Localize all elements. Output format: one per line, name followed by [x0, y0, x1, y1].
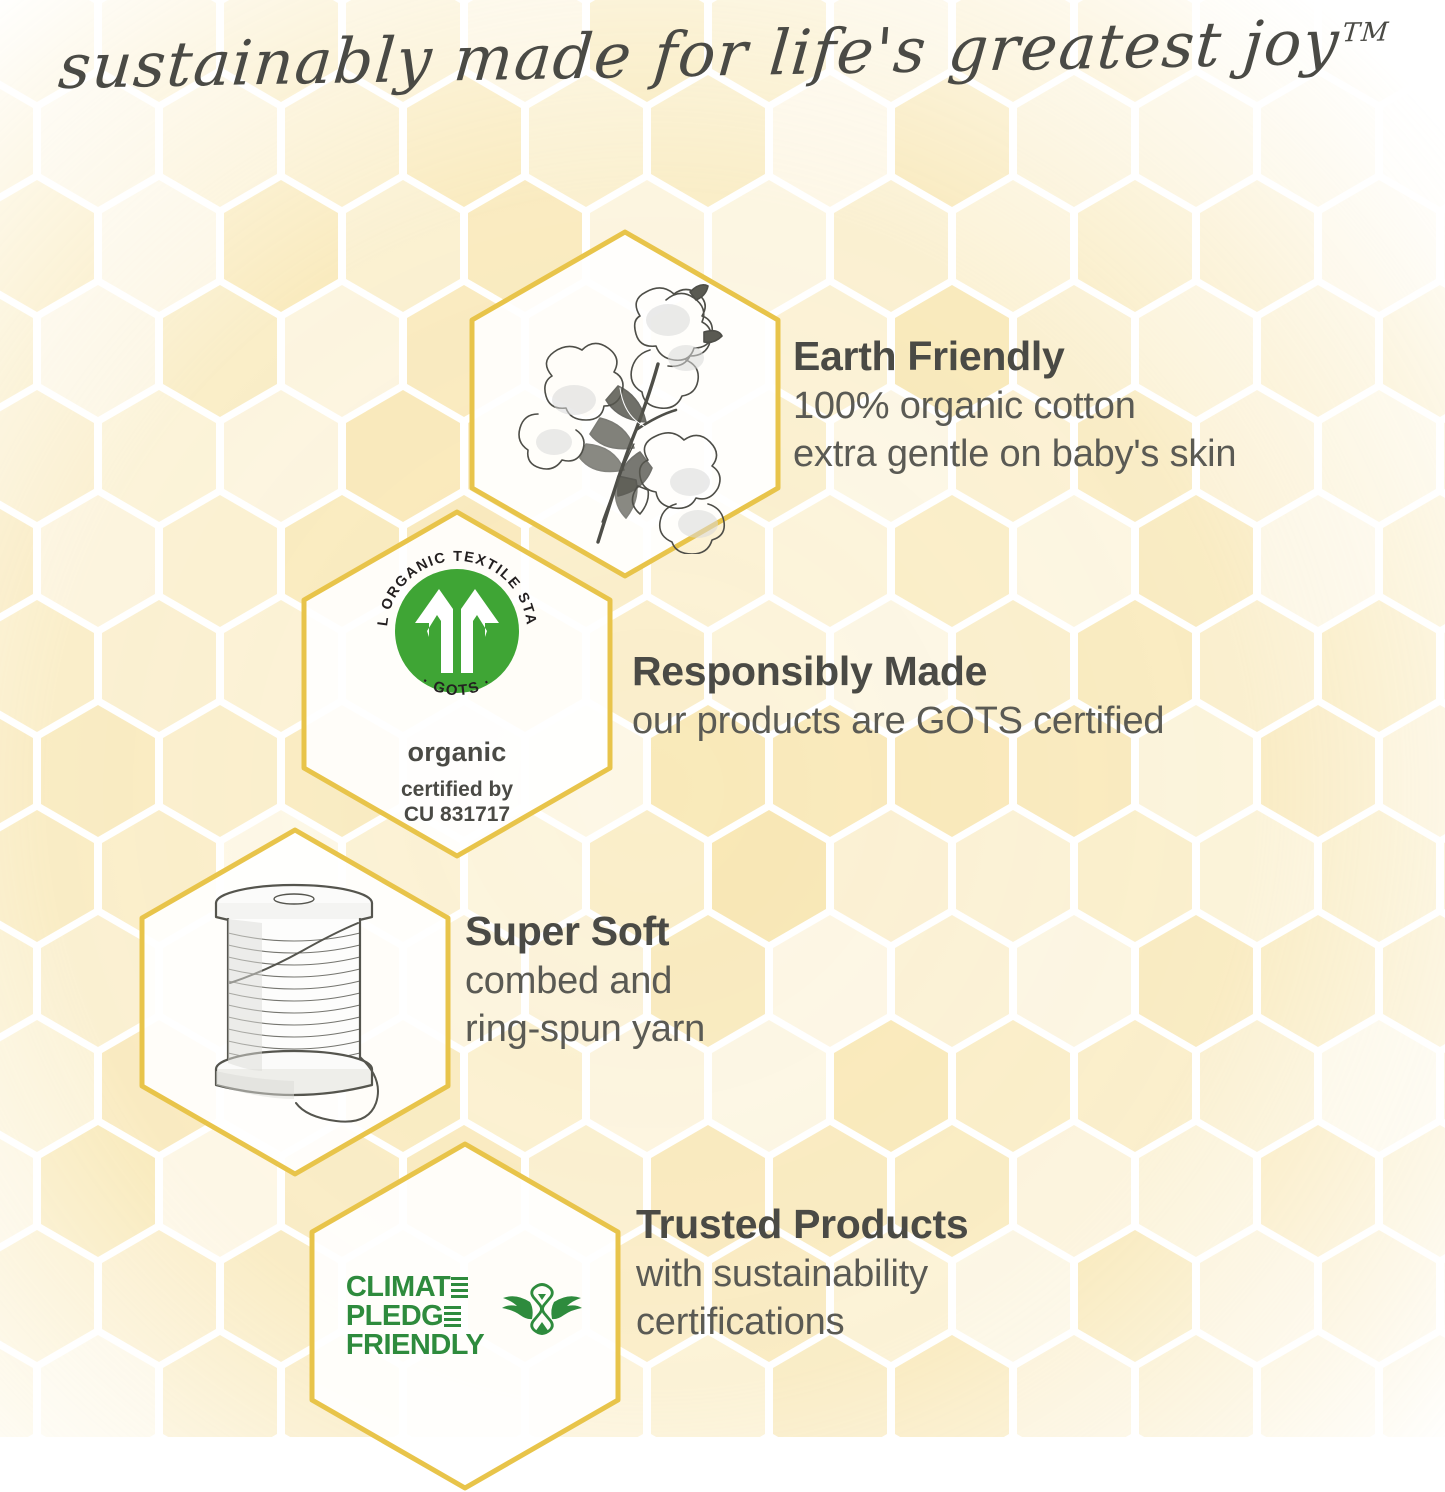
- gots-badge-wrap: GLOBAL ORGANIC TEXTILE STANDARD · GOTS ·…: [300, 508, 614, 860]
- spool-illustration-wrap: [138, 826, 452, 1178]
- feature-line: extra gentle on baby's skin: [793, 430, 1236, 478]
- feature-line: ring-spun yarn: [465, 1005, 705, 1053]
- feature-text-responsibly-made: Responsibly Made our products are GOTS c…: [632, 645, 1164, 745]
- feature-line: with sustainability: [636, 1250, 968, 1298]
- cpf-striped-e-icon: [451, 1275, 468, 1299]
- feature-title: Earth Friendly: [793, 330, 1236, 382]
- features-list: Earth Friendly 100% organic cotton extra…: [0, 0, 1445, 1437]
- cpf-line-1: CLIMAT: [346, 1273, 450, 1302]
- feature-title: Super Soft: [465, 905, 705, 957]
- climate-pledge-wrap: CLIMAT PLEDG FRIENDLY: [308, 1140, 622, 1492]
- climate-pledge-friendly-logo: CLIMAT PLEDG FRIENDLY: [346, 1273, 584, 1360]
- gots-certified-by: certified by: [367, 777, 547, 802]
- feature-line: certifications: [636, 1298, 968, 1346]
- feature-title: Trusted Products: [636, 1198, 968, 1250]
- feature-text-super-soft: Super Soft combed and ring-spun yarn: [465, 905, 705, 1053]
- feature-text-trusted-products: Trusted Products with sustainability cer…: [636, 1198, 968, 1346]
- gots-certification-badge: GLOBAL ORGANIC TEXTILE STANDARD · GOTS ·…: [367, 541, 547, 827]
- feature-line: combed and: [465, 957, 705, 1005]
- cpf-wordmark: CLIMAT PLEDG FRIENDLY: [346, 1273, 484, 1360]
- cpf-line-2: PLEDG: [346, 1302, 443, 1331]
- feature-line: our products are GOTS certified: [632, 697, 1164, 745]
- cpf-striped-e-icon: [444, 1304, 461, 1328]
- winged-hourglass-icon: [500, 1274, 584, 1358]
- feature-line: 100% organic cotton: [793, 382, 1236, 430]
- feature-text-earth-friendly: Earth Friendly 100% organic cotton extra…: [793, 330, 1236, 478]
- trademark-symbol: TM: [1341, 18, 1391, 49]
- thread-spool-icon: [170, 867, 420, 1137]
- gots-certifier-code: CU 831717: [367, 802, 547, 827]
- cpf-line-3: FRIENDLY: [346, 1331, 484, 1360]
- gots-seal-icon: GLOBAL ORGANIC TEXTILE STANDARD · GOTS ·: [367, 541, 547, 721]
- feature-title: Responsibly Made: [632, 645, 1164, 697]
- gots-organic-label: organic: [367, 737, 547, 768]
- headline-container: sustainably made for life's greatest joy…: [0, 34, 1445, 99]
